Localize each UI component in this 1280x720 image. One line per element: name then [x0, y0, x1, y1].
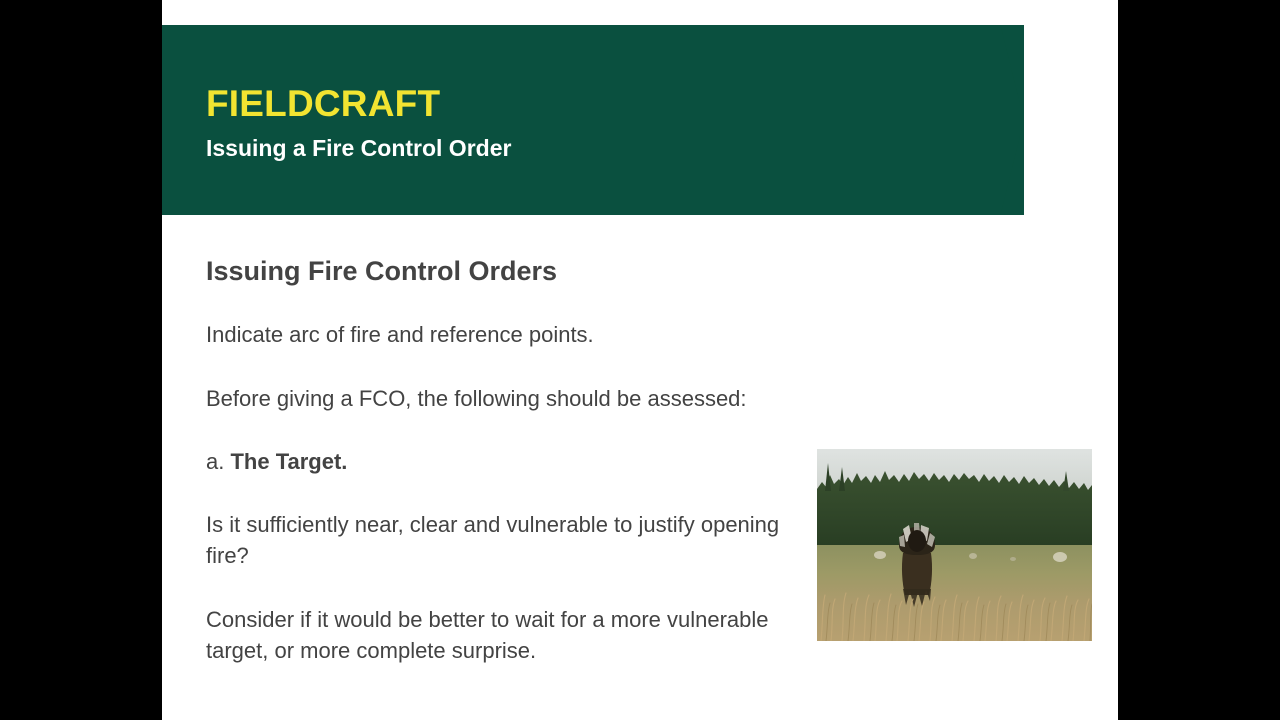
- section-heading: Issuing Fire Control Orders: [206, 255, 826, 287]
- letterbox-bar-right: [1118, 0, 1280, 720]
- body-list-item-a: a. The Target.: [206, 446, 826, 477]
- page-title: FIELDCRAFT: [206, 85, 511, 124]
- letterbox-bar-left: [0, 0, 162, 720]
- body-paragraph-1: Indicate arc of fire and reference point…: [206, 319, 826, 350]
- list-item-bold-label: The Target.: [230, 449, 347, 474]
- photo-illustration: [817, 449, 1092, 641]
- body-paragraph-3: Is it sufficiently near, clear and vulne…: [206, 509, 826, 571]
- camouflaged-soldier-in-field-photo: [817, 449, 1092, 641]
- body-content: Issuing Fire Control Orders Indicate arc…: [206, 255, 826, 666]
- soldier-figure: [899, 523, 935, 607]
- body-paragraph-4: Consider if it would be better to wait f…: [206, 604, 826, 666]
- body-paragraph-2: Before giving a FCO, the following shoul…: [206, 383, 826, 414]
- header-text-group: FIELDCRAFT Issuing a Fire Control Order: [206, 85, 511, 161]
- slide-canvas: FIELDCRAFT Issuing a Fire Control Order …: [162, 0, 1118, 720]
- list-item-marker: a.: [206, 449, 230, 474]
- page-subtitle: Issuing a Fire Control Order: [206, 136, 511, 161]
